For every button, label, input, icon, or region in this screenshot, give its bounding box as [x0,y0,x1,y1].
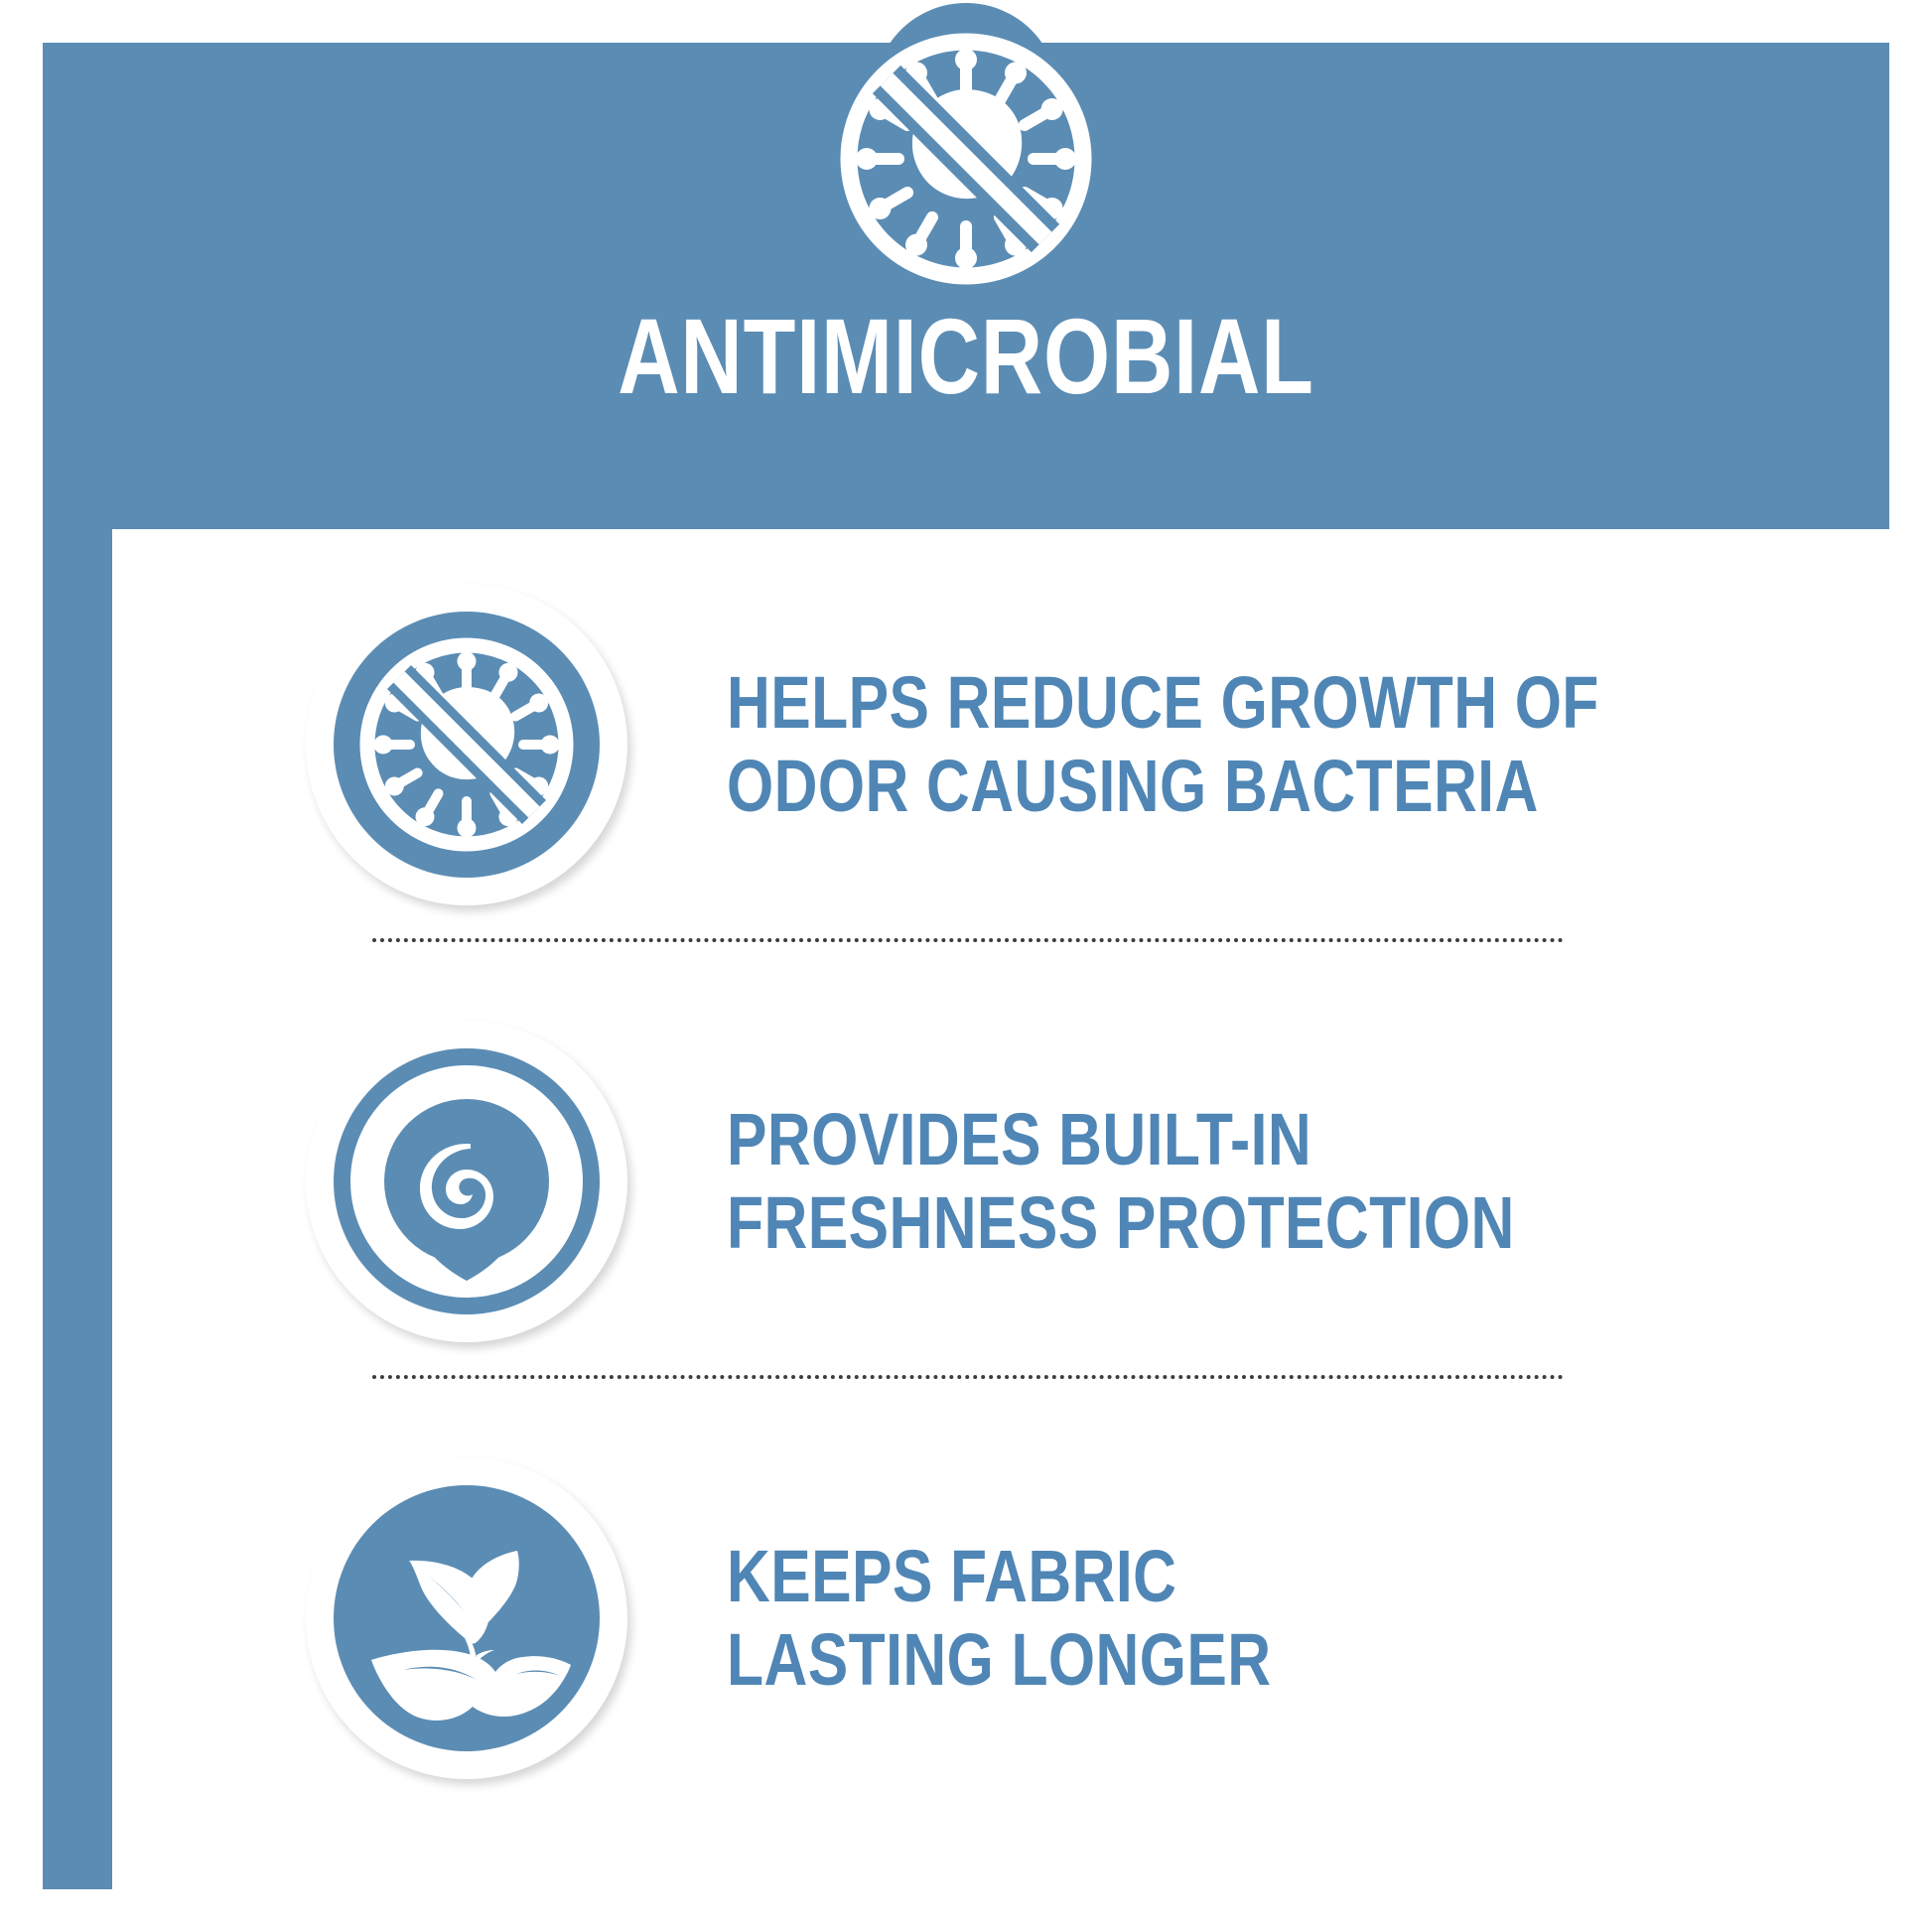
feature-badge [306,1021,627,1342]
feature-text-line: KEEPS FABRIC [727,1535,1658,1618]
feature-text-line: FRESHNESS PROTECTION [727,1181,1658,1265]
list-item: KEEPS FABRIC LASTING LONGER [69,1420,1863,1817]
feature-badge [306,584,627,905]
divider [372,1375,1564,1379]
feature-text-line: LASTING LONGER [727,1618,1658,1702]
feature-text-line: PROVIDES BUILT-IN [727,1098,1658,1181]
no-bacteria-icon [839,32,1093,286]
no-bacteria-icon [334,612,600,878]
feature-text: HELPS REDUCE GROWTH OF ODOR CAUSING BACT… [727,661,1658,828]
shield-swirl-icon [334,1048,600,1314]
feature-text: PROVIDES BUILT-IN FRESHNESS PROTECTION [727,1098,1658,1265]
feature-text-line: HELPS REDUCE GROWTH OF [727,661,1658,745]
feature-text-line: ODOR CAUSING BACTERIA [727,745,1658,828]
antimicrobial-infographic: ANTIMICROBIAL [0,0,1932,1932]
list-item: PROVIDES BUILT-IN FRESHNESS PROTECTION [69,983,1863,1380]
features-list: HELPS REDUCE GROWTH OF ODOR CAUSING BACT… [69,486,1863,1863]
feature-badge [306,1457,627,1779]
divider [372,938,1564,942]
page-title: ANTIMICROBIAL [227,298,1705,415]
header: ANTIMICROBIAL [43,0,1889,486]
leaf-sprout-icon [334,1485,600,1751]
list-item: HELPS REDUCE GROWTH OF ODOR CAUSING BACT… [69,546,1863,943]
feature-text: KEEPS FABRIC LASTING LONGER [727,1535,1658,1702]
